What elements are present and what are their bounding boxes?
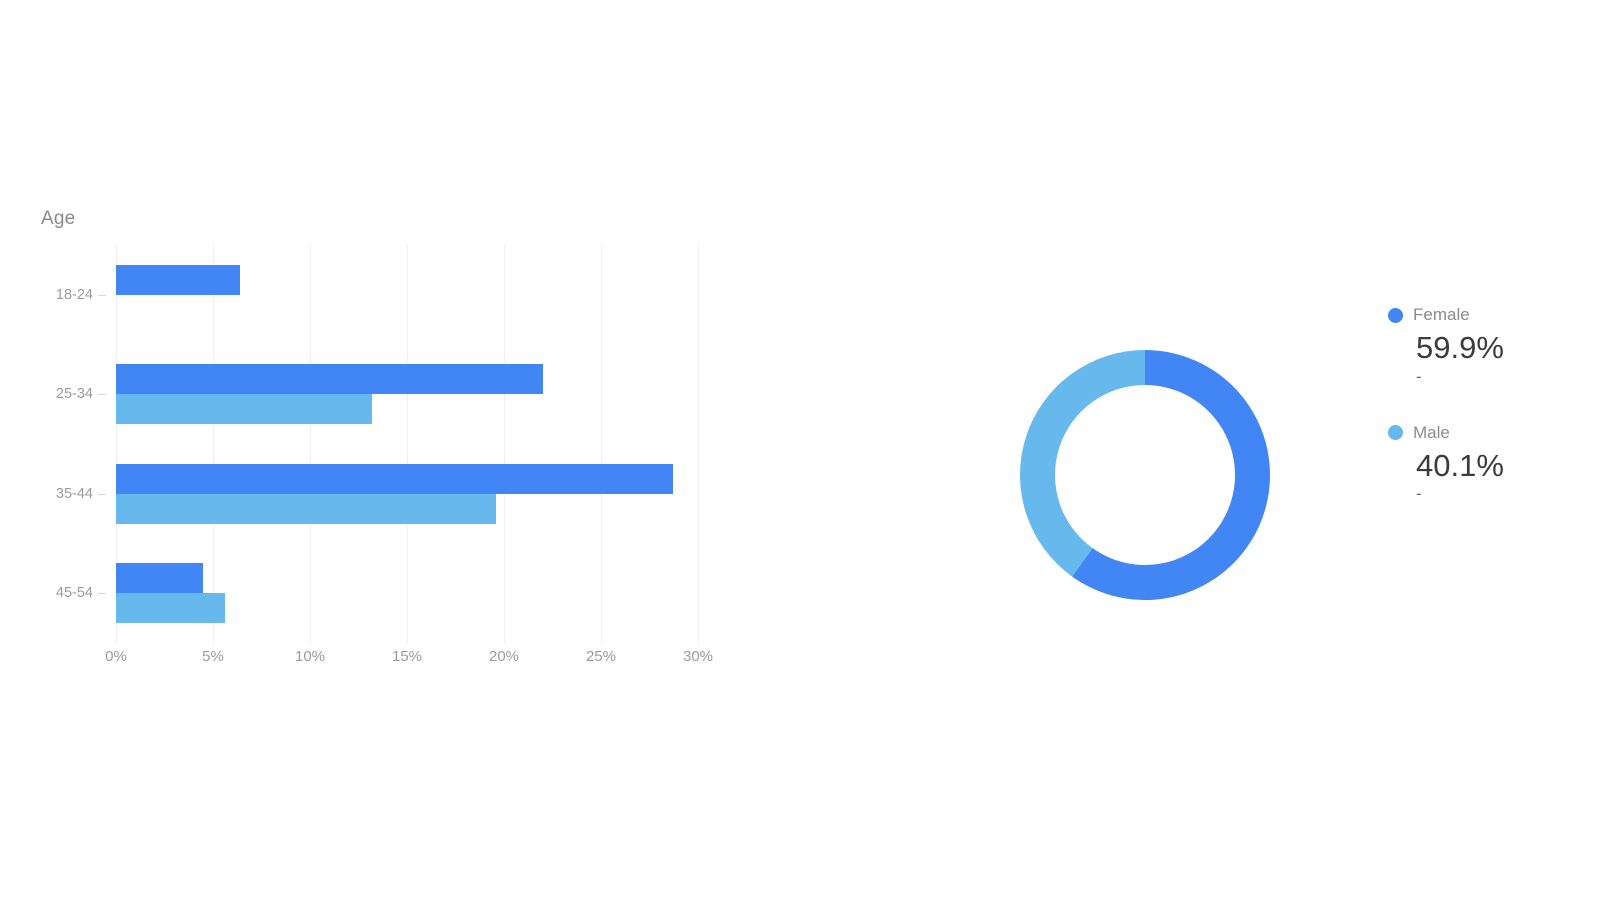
gridline [698,245,699,643]
x-tick-label-5%: 5% [202,648,224,665]
gridline [407,245,408,643]
age-x-axis: 0%5%10%15%20%25%30% [0,648,800,672]
age-bar-chart: Age 18-2425-3435-4445-54 0%5%10%15%20%25… [0,0,800,900]
y-tick-label-35-44: 35-44 [56,486,93,502]
gender-legend: Female59.9%-Male40.1%- [1388,305,1598,540]
bar-35-44-female[interactable] [116,464,673,494]
gridline [601,245,602,643]
legend-swatch-icon [1388,425,1403,440]
y-tick-mark [98,593,106,594]
y-tick-label-25-34: 25-34 [56,386,93,402]
x-tick-label-25%: 25% [586,648,616,665]
legend-value: 40.1% [1416,449,1598,484]
gender-donut-chart: Gender Female 59.9%Male 40.1% Female59.9… [800,0,1600,900]
legend-item-female[interactable]: Female59.9%- [1388,305,1598,385]
y-tick-label-18-24: 18-24 [56,287,93,303]
legend-swatch-icon [1388,308,1403,323]
age-chart-title: Age [41,208,75,230]
bar-18-24-female[interactable] [116,265,240,295]
legend-label: Male [1413,423,1450,443]
bar-25-34-female[interactable] [116,364,543,394]
legend-item-header: Female [1388,305,1598,325]
x-tick-label-30%: 30% [683,648,713,665]
x-tick-label-15%: 15% [392,648,422,665]
gridline [504,245,505,643]
x-tick-label-10%: 10% [295,648,325,665]
legend-item-header: Male [1388,423,1598,443]
legend-sublabel: - [1416,368,1598,385]
legend-sublabel: - [1416,485,1598,502]
age-plot-area [116,245,698,643]
legend-value: 59.9% [1416,331,1598,366]
age-y-axis: 18-2425-3435-4445-54 [0,245,106,643]
donut-slice-male[interactable]: Male 40.1% [1020,350,1145,577]
y-tick-mark [98,295,106,296]
bar-35-44-male[interactable] [116,494,496,524]
y-tick-label-45-54: 45-54 [56,585,93,601]
gridline [310,245,311,643]
donut-svg: Female 59.9%Male 40.1% [1018,348,1272,602]
donut-graphic[interactable]: Female 59.9%Male 40.1% [1018,348,1272,602]
dashboard-root: Age 18-2425-3435-4445-54 0%5%10%15%20%25… [0,0,1600,900]
y-tick-mark [98,394,106,395]
bar-45-54-male[interactable] [116,593,225,623]
bar-25-34-male[interactable] [116,394,372,424]
y-tick-mark [98,494,106,495]
x-tick-label-20%: 20% [489,648,519,665]
legend-item-male[interactable]: Male40.1%- [1388,423,1598,503]
bar-45-54-female[interactable] [116,563,203,593]
gridline [213,245,214,643]
legend-label: Female [1413,305,1470,325]
x-tick-label-0%: 0% [105,648,127,665]
